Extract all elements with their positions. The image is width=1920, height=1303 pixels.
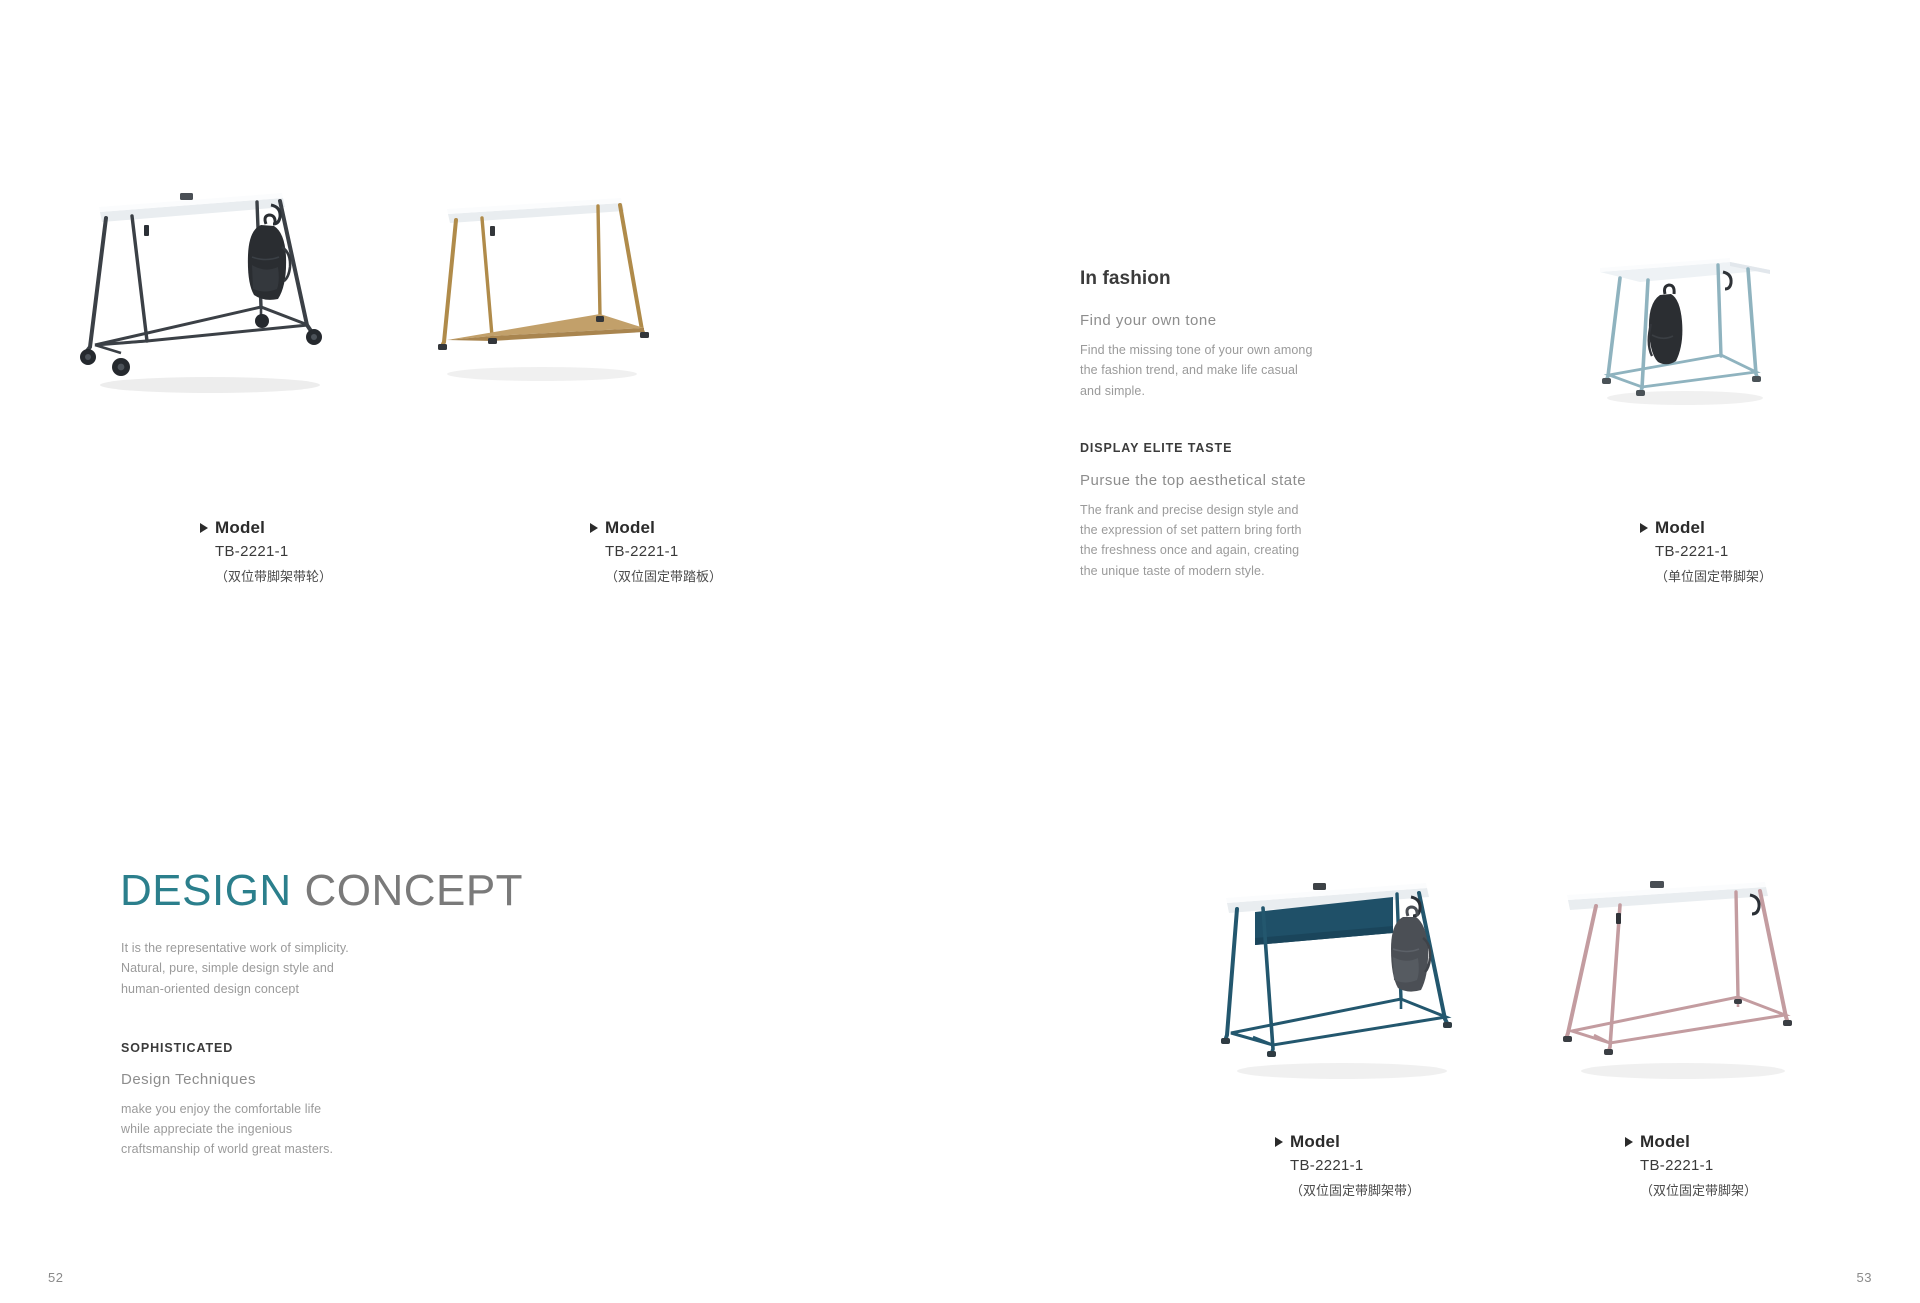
model-label: Model (215, 518, 265, 538)
model-variant: （单位固定带脚架） (1655, 566, 1772, 585)
model-block-blue-single: Model TB-2221-1 （单位固定带脚架） (1640, 518, 1772, 585)
product-image-brass-footrest (430, 190, 655, 390)
model-label: Model (1290, 1132, 1340, 1152)
page-number-right: 53 (1857, 1270, 1872, 1285)
triangle-bullet-icon (200, 523, 208, 533)
model-label: Model (1640, 1132, 1690, 1152)
in-fashion-kicker: DISPLAY ELITE TASTE (1080, 441, 1330, 455)
catalog-spread: Model TB-2221-1 （双位带脚架带轮） (0, 0, 1920, 1303)
model-code: TB-2221-1 (1640, 1157, 1757, 1174)
product-image-black-caster (75, 185, 335, 400)
model-heading: Model (1625, 1132, 1757, 1152)
model-variant: （双位固定带踏板） (605, 566, 722, 585)
triangle-bullet-icon (1625, 1137, 1633, 1147)
in-fashion-body-2: The frank and precise design style and t… (1080, 500, 1310, 581)
model-label: Model (605, 518, 655, 538)
in-fashion-title: In fashion (1080, 268, 1330, 290)
model-label: Model (1655, 518, 1705, 538)
triangle-bullet-icon (1640, 523, 1648, 533)
model-variant: （双位带脚架带轮） (215, 566, 332, 585)
in-fashion-section: In fashion Find your own tone Find the m… (1080, 268, 1330, 581)
design-concept-section: It is the representative work of simplic… (121, 938, 361, 1160)
in-fashion-subtitle: Find your own tone (1080, 312, 1330, 329)
design-concept-title-accent: DESIGN (120, 866, 292, 915)
model-heading: Model (200, 518, 332, 538)
design-concept-title: DESIGN CONCEPT (120, 866, 523, 916)
model-block-brass-footrest: Model TB-2221-1 （双位固定带踏板） (590, 518, 722, 585)
model-heading: Model (590, 518, 722, 538)
design-concept-body: It is the representative work of simplic… (121, 938, 353, 999)
backpack-black (248, 215, 290, 300)
design-concept-title-rest: CONCEPT (304, 866, 523, 915)
model-heading: Model (1275, 1132, 1420, 1152)
model-heading: Model (1640, 518, 1772, 538)
model-variant: （双位固定带脚架带） (1290, 1180, 1420, 1199)
model-block-pink-frame: Model TB-2221-1 （双位固定带脚架） (1625, 1132, 1757, 1199)
model-code: TB-2221-1 (215, 543, 332, 560)
design-concept-body-2: make you enjoy the comfortable life whil… (121, 1099, 343, 1160)
product-image-petrol-panel (1215, 875, 1470, 1085)
product-image-blue-single (1590, 250, 1780, 410)
backpack-black (1649, 285, 1683, 364)
model-code: TB-2221-1 (605, 543, 722, 560)
model-code: TB-2221-1 (1290, 1157, 1420, 1174)
triangle-bullet-icon (590, 523, 598, 533)
design-concept-kicker: SOPHISTICATED (121, 1041, 361, 1055)
design-concept-subtitle: Design Techniques (121, 1071, 361, 1088)
model-block-black-caster: Model TB-2221-1 （双位带脚架带轮） (200, 518, 332, 585)
in-fashion-body: Find the missing tone of your own among … (1080, 340, 1320, 401)
product-image-pink-frame (1558, 875, 1808, 1085)
triangle-bullet-icon (1275, 1137, 1283, 1147)
in-fashion-subtitle-2: Pursue the top aesthetical state (1080, 472, 1330, 489)
page-number-left: 52 (48, 1270, 63, 1285)
model-block-petrol-panel: Model TB-2221-1 （双位固定带脚架带） (1275, 1132, 1420, 1199)
model-code: TB-2221-1 (1655, 543, 1772, 560)
model-variant: （双位固定带脚架） (1640, 1180, 1757, 1199)
